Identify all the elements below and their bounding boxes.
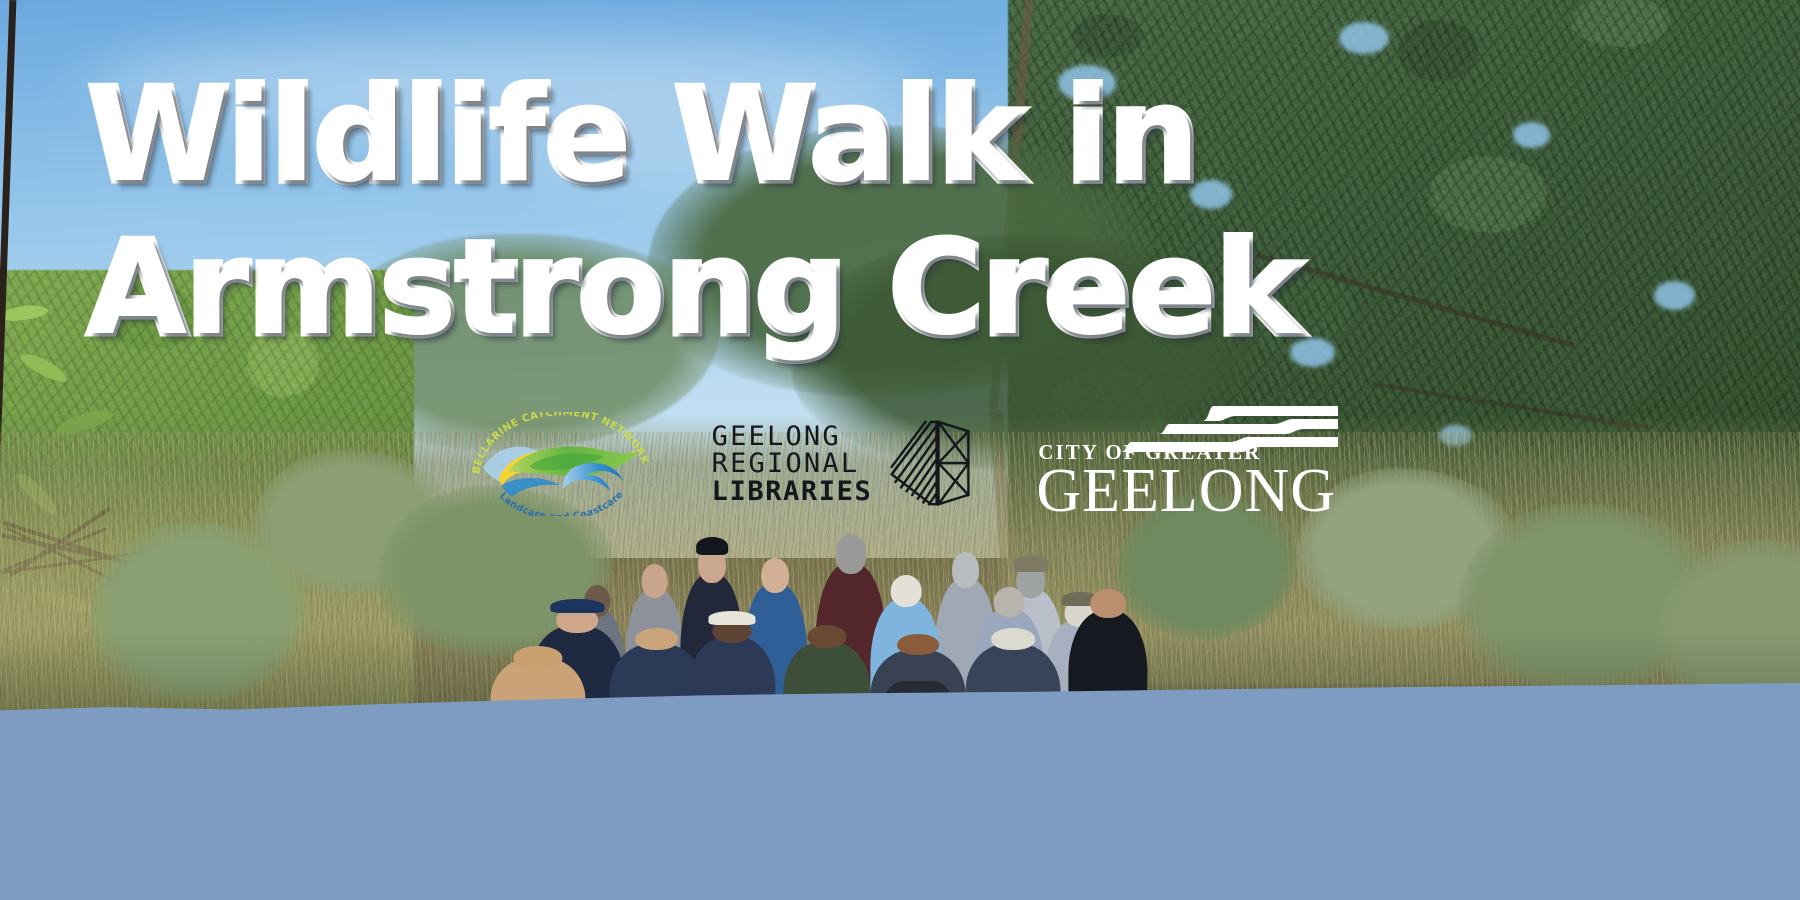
cogg-line-2: GEELONG [1036, 460, 1336, 522]
city-of-greater-geelong-logo: CITY OF GREATER GEELONG [1032, 412, 1332, 516]
grl-line-1: GEELONG [712, 423, 873, 451]
event-poster: Wildlife Walk in Armstrong Creek [0, 0, 1800, 900]
grl-wordmark: GEELONG REGIONAL LIBRARIES [712, 423, 873, 506]
grl-line-3: LIBRARIES [712, 478, 873, 506]
bellarine-catchment-network-logo: BELLARINE CATCHMENT NETWORK Landcare and… [468, 412, 654, 516]
logo-row: BELLARINE CATCHMENT NETWORK Landcare and… [0, 0, 1800, 900]
geelong-regional-libraries-logo: GEELONG REGIONAL LIBRARIES [712, 418, 975, 510]
grl-line-2: REGIONAL [712, 450, 873, 478]
open-book-hexagon-icon [888, 418, 974, 510]
